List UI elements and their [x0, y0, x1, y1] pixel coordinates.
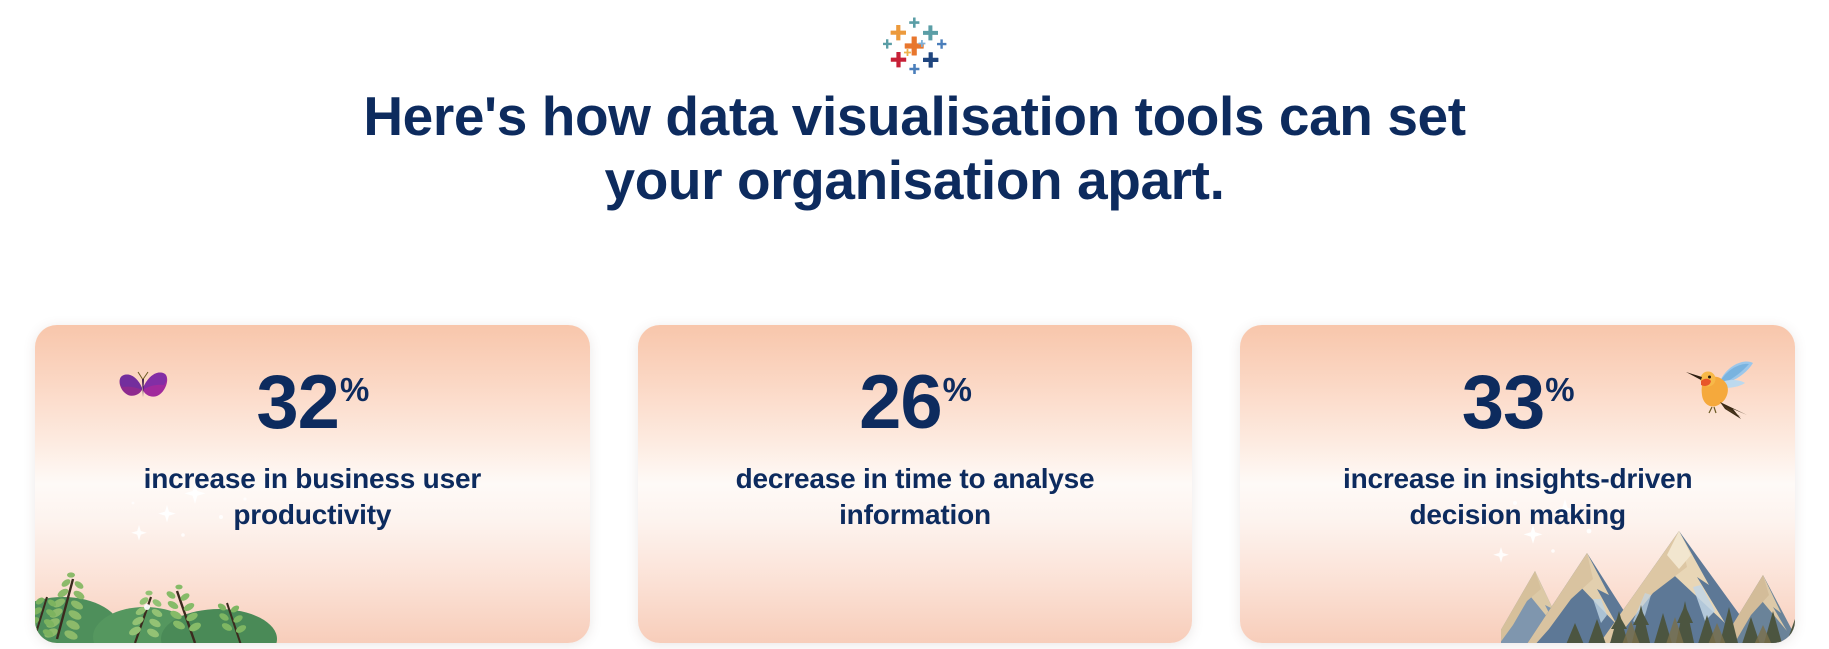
stat-card: 33 % increase in insights-driven decisio… — [1240, 325, 1795, 643]
stat-label: increase in insights-driven decision mak… — [1308, 461, 1728, 533]
stat-number-text: 32 — [256, 367, 339, 439]
percent-symbol: % — [943, 373, 971, 406]
stat-cards-row: 32 % increase in business user productiv… — [35, 325, 1795, 643]
tableau-logo-icon — [883, 16, 947, 74]
promo-stats-section: Here's how data visualisation tools can … — [0, 0, 1829, 649]
stat-label: increase in business user productivity — [102, 461, 522, 533]
percent-symbol: % — [340, 373, 368, 406]
stat-label: decrease in time to analyse information — [705, 461, 1125, 533]
stat-card: 32 % increase in business user productiv… — [35, 325, 590, 643]
stat-number-text: 33 — [1462, 367, 1545, 439]
stat-value: 32 % — [256, 367, 368, 439]
stat-number-text: 26 — [859, 367, 942, 439]
brand-logo — [0, 16, 1829, 74]
stat-value: 26 % — [859, 367, 971, 439]
page-title: Here's how data visualisation tools can … — [335, 84, 1495, 213]
stat-value: 33 % — [1462, 367, 1574, 439]
percent-symbol: % — [1545, 373, 1573, 406]
stat-card: 26 % decrease in time to analyse informa… — [638, 325, 1193, 643]
